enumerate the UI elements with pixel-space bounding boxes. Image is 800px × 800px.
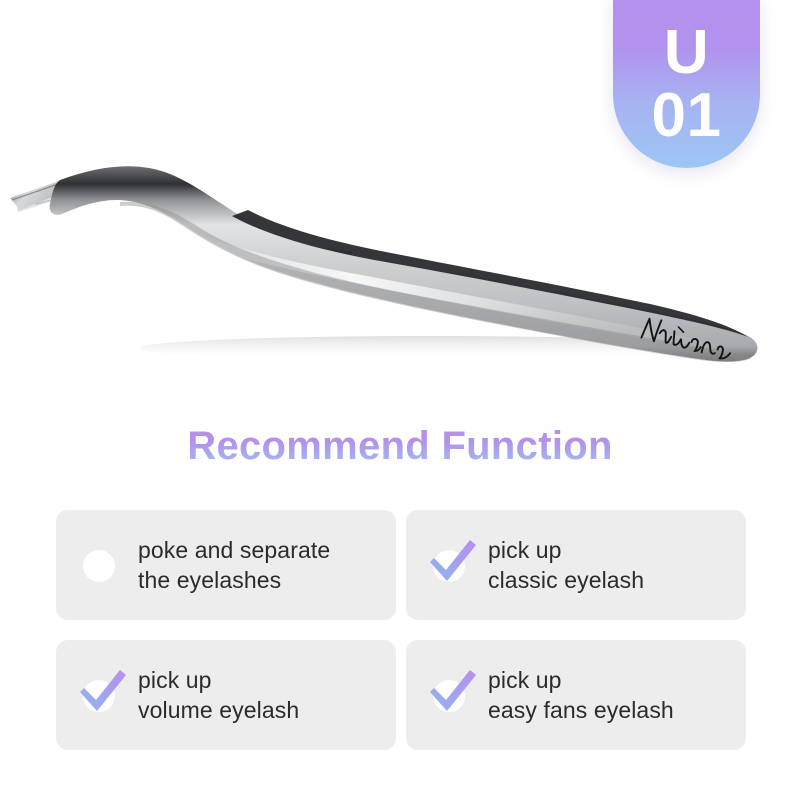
feature-label: pick up easy fans eyelash	[488, 665, 674, 726]
check-icon	[74, 666, 132, 724]
feature-label: pick up classic eyelash	[488, 535, 644, 596]
feature-card: pick up classic eyelash	[406, 510, 746, 620]
check-icon-glyph	[424, 666, 482, 724]
product-photo	[0, 120, 800, 410]
check-icon-glyph	[74, 666, 132, 724]
badge-letter: U	[664, 23, 709, 84]
feature-card: poke and separate the eyelashes	[56, 510, 396, 620]
check-icon	[424, 536, 482, 594]
feature-card-grid: poke and separate the eyelashes pick up …	[56, 510, 746, 750]
feature-label: pick up volume eyelash	[138, 665, 299, 726]
tweezers-illustration	[0, 120, 800, 410]
check-icon	[424, 666, 482, 724]
product-image-canvas: U 01	[0, 0, 800, 800]
feature-label: poke and separate the eyelashes	[138, 535, 330, 596]
section-title: Recommend Function	[0, 424, 800, 469]
feature-card: pick up easy fans eyelash	[406, 640, 746, 750]
circle-dot-icon	[74, 536, 132, 594]
feature-card: pick up volume eyelash	[56, 640, 396, 750]
check-icon-glyph	[424, 536, 482, 594]
